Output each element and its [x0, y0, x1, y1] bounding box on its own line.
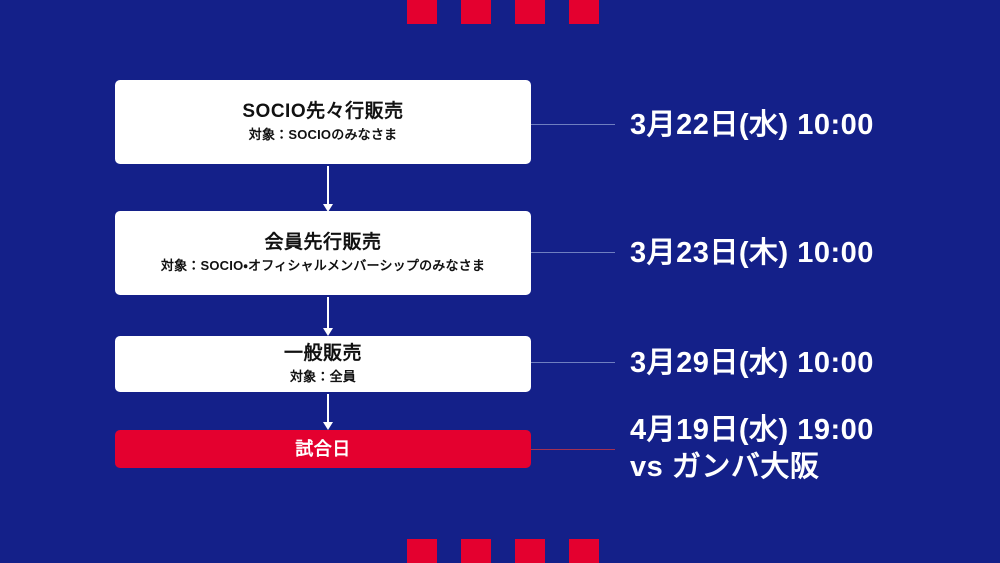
step-title: SOCIO先々行販売: [242, 100, 403, 124]
connector-line-4: [531, 449, 615, 450]
connector-line-2: [531, 252, 615, 253]
deco-block-bottom-1: [407, 539, 437, 563]
step-title: 一般販売: [284, 342, 362, 366]
flow-arrow-2-to-3: [321, 297, 335, 336]
arrow-shaft: [327, 394, 329, 423]
date-label-2: 3月23日(木) 10:00: [630, 235, 874, 272]
step-box-member-advance[interactable]: 会員先行販売 対象：SOCIO・オフィシャルメンバーシップのみなさま: [115, 211, 531, 295]
date-text: 3月29日(水) 10:00: [630, 347, 874, 379]
date-text: 4月19日(水) 19:00: [630, 414, 874, 446]
date-text: 3月22日(水) 10:00: [630, 109, 874, 141]
ticket-sales-schedule-infographic: SOCIO先々行販売 対象：SOCIOのみなさま 3月22日(水) 10:00 …: [0, 0, 1000, 563]
top-decoration-strip: [0, 0, 1000, 24]
step-subtitle: 対象：全員: [290, 369, 356, 386]
arrow-head-icon: [323, 328, 333, 336]
date-text: 3月23日(木) 10:00: [630, 237, 874, 269]
date-label-4: 4月19日(水) 19:00 vs ガンバ大阪: [630, 412, 874, 486]
step-title: 試合日: [295, 438, 351, 461]
bottom-decoration-strip: [0, 539, 1000, 563]
step-box-socio-advance-advance[interactable]: SOCIO先々行販売 対象：SOCIOのみなさま: [115, 80, 531, 164]
flow-arrow-3-to-4: [321, 394, 335, 430]
step-subtitle: 対象：SOCIO・オフィシャルメンバーシップのみなさま: [161, 258, 485, 275]
arrow-shaft: [327, 166, 329, 205]
deco-block-bottom-2: [461, 539, 491, 563]
step-box-match-day[interactable]: 試合日: [115, 430, 531, 468]
deco-block-top-1: [407, 0, 437, 24]
deco-block-top-3: [515, 0, 545, 24]
step-subtitle: 対象：SOCIOのみなさま: [249, 127, 398, 144]
date-label-1: 3月22日(水) 10:00: [630, 107, 874, 144]
step-box-general-sale[interactable]: 一般販売 対象：全員: [115, 336, 531, 392]
step-title: 会員先行販売: [264, 231, 381, 255]
arrow-head-icon: [323, 422, 333, 430]
date-label-3: 3月29日(水) 10:00: [630, 345, 874, 382]
deco-block-top-2: [461, 0, 491, 24]
connector-line-1: [531, 124, 615, 125]
arrow-shaft: [327, 297, 329, 329]
deco-block-top-4: [569, 0, 599, 24]
flow-arrow-1-to-2: [321, 166, 335, 212]
opponent-text: vs ガンバ大阪: [630, 449, 874, 486]
connector-line-3: [531, 362, 615, 363]
deco-block-bottom-3: [515, 539, 545, 563]
deco-block-bottom-4: [569, 539, 599, 563]
